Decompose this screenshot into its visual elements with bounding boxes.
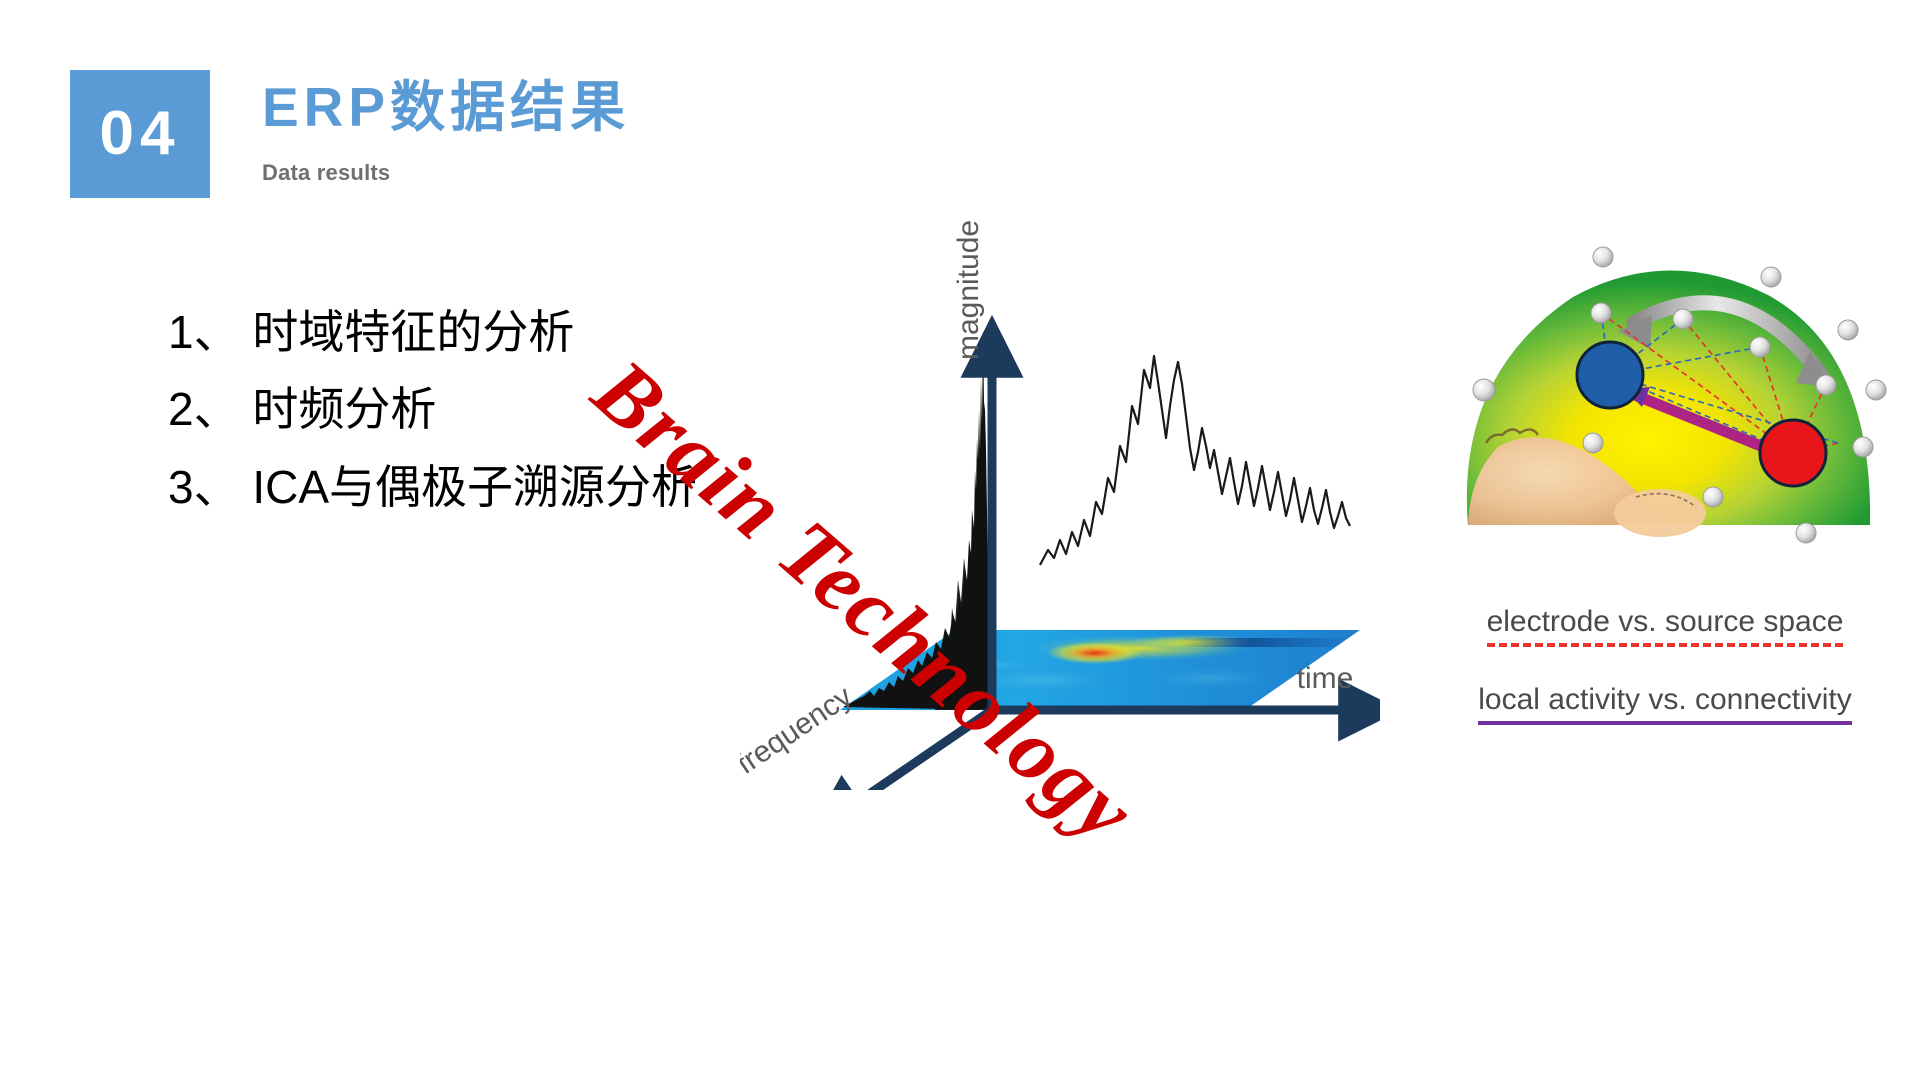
time-axis-label: time: [1297, 662, 1354, 695]
list-item: 1、 时域特征的分析: [168, 300, 768, 365]
frequency-axis: [843, 710, 992, 790]
section-number-label: 04: [100, 103, 181, 165]
caption-row-electrode: electrode vs. source space: [1430, 605, 1900, 647]
slide-header: 04 ERP数据结果 Data results: [0, 0, 1920, 210]
caption-local-vs-connectivity: local activity vs. connectivity: [1478, 683, 1851, 725]
list-item: 2、 时频分析: [168, 377, 768, 442]
node-red: [1760, 420, 1826, 486]
magnitude-axis-label: magnitude: [952, 220, 985, 360]
section-number-badge: 04: [70, 70, 210, 198]
frequency-axis-label: frequency: [740, 680, 858, 781]
page-title: ERP数据结果: [262, 62, 630, 142]
time-frequency-3d-figure: magnitude time frequency: [740, 210, 1380, 790]
caption-row-local: local activity vs. connectivity: [1430, 683, 1900, 725]
caption-electrode-vs-source: electrode vs. source space: [1487, 605, 1844, 647]
erp-waveform-plot: [1040, 356, 1350, 565]
list-item: 3、 ICA与偶极子溯源分析: [168, 455, 768, 520]
frequency-spectrum-plot: [843, 330, 992, 710]
node-blue: [1577, 342, 1643, 408]
content-bullet-list: 1、 时域特征的分析 2、 时频分析 3、 ICA与偶极子溯源分析: [168, 300, 768, 532]
head-topography-figure: [1438, 225, 1888, 565]
page-subtitle: Data results: [262, 160, 390, 186]
axis-lines: [843, 358, 1358, 790]
figure-captions: electrode vs. source space local activit…: [1430, 605, 1900, 761]
